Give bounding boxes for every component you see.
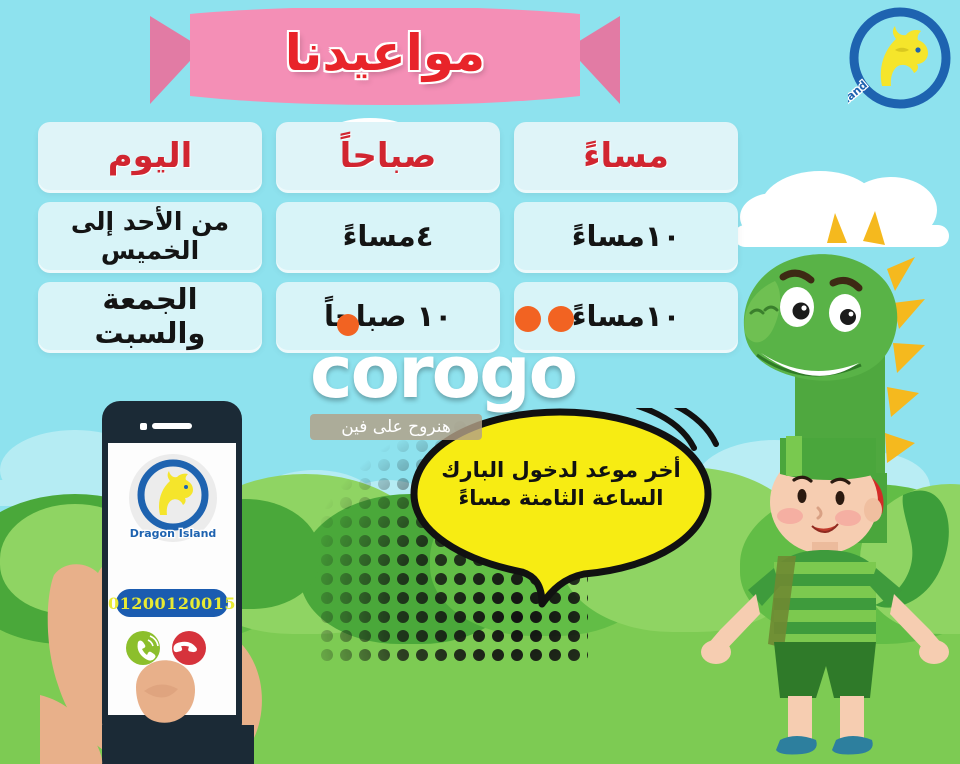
watermark-dot-icon xyxy=(515,306,541,332)
header-day: اليوم xyxy=(38,122,262,190)
boy-character-icon xyxy=(700,430,960,764)
table-header-row: مساءً صباحاً اليوم xyxy=(38,122,738,190)
phone-call-scene: Dragon Island 01200120015 xyxy=(40,395,300,764)
bubble-line-1: أخر موعد لدخول البارك xyxy=(430,456,692,484)
watermark: corogo هنروح على فين xyxy=(310,336,650,446)
watermark-word: corogo xyxy=(310,336,650,408)
bubble-text: أخر موعد لدخول البارك الساعة الثامنة مسا… xyxy=(430,456,692,513)
page-title: مواعيدنا xyxy=(150,24,620,82)
poster-root: Dragon Island مواعيدنا مساءً صباحاً اليو… xyxy=(0,0,960,764)
brand-logo[interactable]: Dragon Island xyxy=(848,6,952,118)
schedule-table: مساءً صباحاً اليوم ١٠مساءً ٤مساءً من الأ… xyxy=(38,122,738,362)
header-morning: صباحاً xyxy=(276,122,500,190)
banner-ribbon: مواعيدنا xyxy=(150,8,620,113)
cell-morning: ٤مساءً xyxy=(276,202,500,270)
header-evening: مساءً xyxy=(514,122,738,190)
bubble-line-2: الساعة الثامنة مساءً xyxy=(430,484,692,512)
cell-day: الجمعة والسبت xyxy=(38,282,262,350)
watermark-tagline: هنروح على فين xyxy=(310,414,482,440)
cell-evening: ١٠مساءً xyxy=(514,202,738,270)
watermark-dot-icon xyxy=(548,306,574,332)
table-row: ١٠مساءً ٤مساءً من الأحد إلى الخميس xyxy=(38,202,738,270)
cell-day: من الأحد إلى الخميس xyxy=(38,202,262,270)
watermark-dot-icon xyxy=(337,314,359,336)
